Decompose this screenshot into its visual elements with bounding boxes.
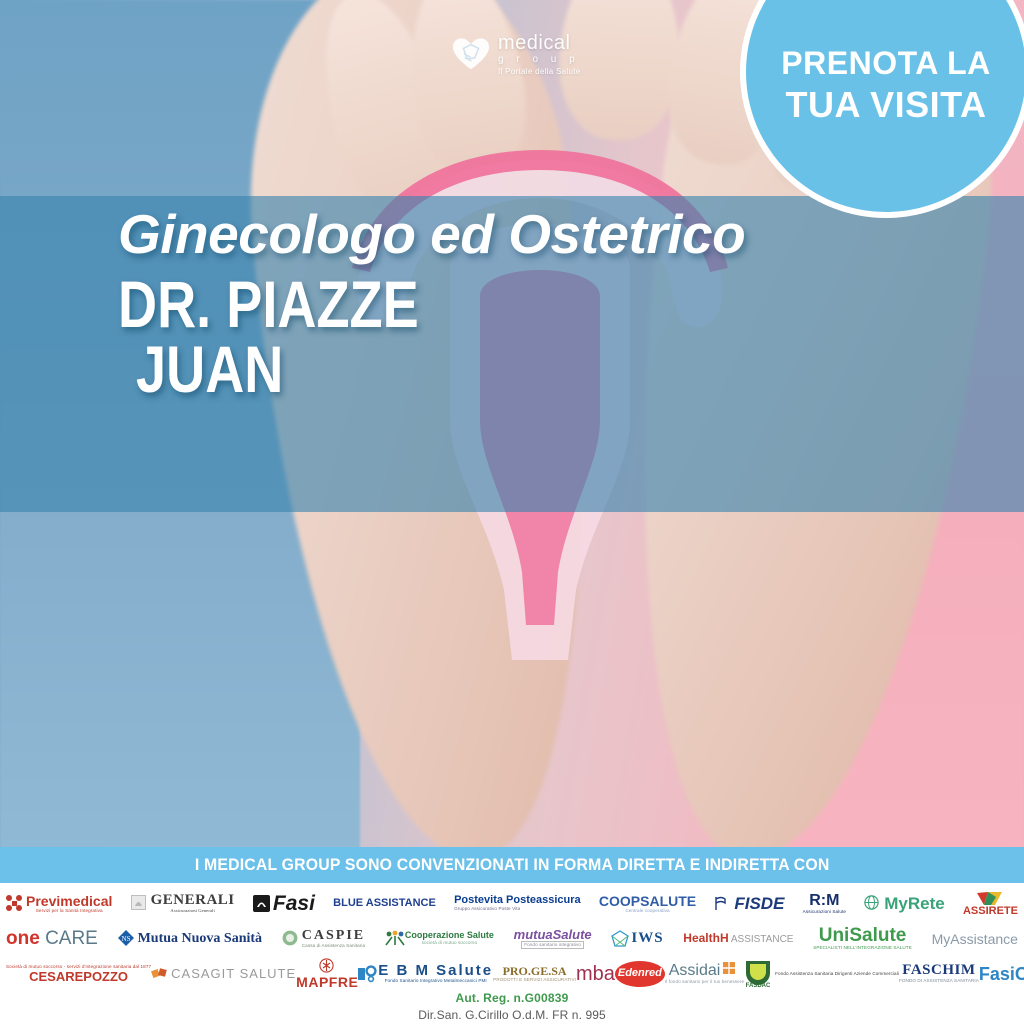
assidai-mark-icon xyxy=(723,962,740,979)
partner-sub: Il fondo sanitario per il tuo benessere xyxy=(665,979,744,984)
partner-name: Previmedical xyxy=(26,894,112,908)
partner-sub: Assicurazioni Salute xyxy=(803,909,846,914)
partner-logo-fasdac: FASDAC Fondo Assistenza Sanitaria Dirige… xyxy=(744,957,899,990)
partner-logo-ebm: E B M Salute Fondo Sanitario Integrativo… xyxy=(358,957,493,990)
authorization-number: Aut. Reg. n.G00839 xyxy=(0,991,1024,1005)
partner-logo-fisde: FISDE xyxy=(714,887,784,920)
svg-text:NS: NS xyxy=(121,935,130,943)
partner-name: Assidai xyxy=(669,963,721,979)
partner-logo-postevita: Postevita Posteassicura Gruppo Assicurat… xyxy=(454,887,581,920)
partner-name: UniSalute xyxy=(819,926,907,945)
partner-sub: PRODOTTI E SERVIZI ASSICURATIVI xyxy=(493,977,576,982)
partner-logo-unisalute: UniSalute SPECIALISTI NELL'INTEGRAZIONE … xyxy=(813,922,912,955)
partner-sub: società di mutuo soccorso xyxy=(422,940,478,945)
previmedical-mark-icon xyxy=(6,895,23,912)
caspie-mark-icon xyxy=(282,930,299,947)
partner-name: PRO.GE.SA xyxy=(503,965,567,977)
fasdac-mark-icon: FASDAC xyxy=(744,959,772,989)
partner-logo-cesarepozzo: Società di mutuo soccorso - servizi d'in… xyxy=(6,957,151,990)
ns-mark-icon: NS xyxy=(118,930,135,947)
partner-sub: SPECIALISTI NELL'INTEGRAZIONE SALUTE xyxy=(813,945,912,950)
fasi-mark-icon xyxy=(253,895,270,912)
doctor-name: DR. PIAZZE JUAN xyxy=(118,272,766,401)
badge-line2: TUA VISITA xyxy=(786,83,987,126)
assirete-mark-icon xyxy=(977,891,1003,906)
partner-logo-myassistance: MyAssistance xyxy=(932,922,1018,955)
ebm-mark-icon xyxy=(358,965,375,982)
partner-logo-assidai: Assidai Il fondo sanitario per il tuo be… xyxy=(665,957,744,990)
partner-name: ASSIRETE xyxy=(963,906,1018,917)
partner-logo-mutuasalute: mutuaSalute Fondo sanitario integrativo xyxy=(514,922,592,955)
partner-name: FISDE xyxy=(734,895,784,912)
partner-name: mba xyxy=(576,964,615,984)
brand-subname: g r o u p xyxy=(498,55,581,65)
partner-name: GENERALI xyxy=(151,893,235,908)
heart-handshake-icon xyxy=(452,37,490,71)
partner-row-1: Previmedical Servizi per la Sanità Integ… xyxy=(6,886,1018,921)
partner-logo-progesa: PRO.GE.SA PRODOTTI E SERVIZI ASSICURATIV… xyxy=(493,957,576,990)
mapfre-mark-icon xyxy=(319,958,336,975)
partner-name: IWS xyxy=(631,931,663,946)
brand-name: medical xyxy=(498,33,581,53)
partner-name: MAPFRE xyxy=(296,975,358,989)
partner-sub: Fondo sanitario integrativo xyxy=(521,941,584,948)
partner-logo-mapfre: MAPFRE xyxy=(296,957,358,990)
partner-name: MyAssistance xyxy=(932,932,1018,946)
partner-logo-generali: GENERALI Assicurazioni Generali xyxy=(131,887,235,920)
partner-row-2: one CARE one CARE NS Mutua Nuova Sanità xyxy=(6,921,1018,956)
iws-mark-icon xyxy=(611,930,628,947)
fisde-mark-icon xyxy=(714,895,731,912)
medical-director: Dir.San. G.Cirillo O.d.M. FR n. 995 xyxy=(0,1008,1024,1022)
partner-sub: FONDO DI ASSISTENZA SANITARIA xyxy=(899,978,979,983)
partner-logo-onecare: one CARE one CARE xyxy=(6,922,98,955)
partner-sub: Fondo Sanitario Integrativo Metalmeccani… xyxy=(385,978,487,983)
partner-logo-blue-assistance: BLUE ASSISTANCE xyxy=(333,887,436,920)
partner-name: CASAGIT SALUTE xyxy=(171,967,296,981)
partner-name: FASCHIM xyxy=(902,963,975,978)
partner-name: R:M xyxy=(809,893,839,909)
partner-logo-myrete: MyRete xyxy=(864,887,944,920)
partner-logo-assirete: ASSIRETE xyxy=(963,887,1018,920)
partner-sub: Fondo Assistenza Sanitaria Dirigenti Azi… xyxy=(775,971,899,976)
partner-sub: Assicurazioni Generali xyxy=(170,908,214,913)
partner-logo-nuovasanita: NS Mutua Nuova Sanità xyxy=(118,922,262,955)
partner-logo-caspie: CASPIE Cassa di Assistenza Sanitaria xyxy=(282,922,365,955)
partner-name: MyRete xyxy=(884,895,944,912)
doctor-specialty: Ginecologo ed Ostetrico xyxy=(118,206,908,262)
partner-name: CASPIE xyxy=(302,929,365,943)
partner-logo-rm: R:M Assicurazioni Salute xyxy=(803,887,846,920)
partner-logo-fasi: Fasi xyxy=(253,887,315,920)
partner-logo-coopsalute: COOPSALUTE Centrale cooperativa xyxy=(599,887,696,920)
doctor-name-line2: JUAN xyxy=(136,337,766,402)
partner-logo-iws: IWS xyxy=(611,922,663,955)
brand-logo: medical g r o u p Il Portale della Salut… xyxy=(452,26,602,82)
partners-banner: I MEDICAL GROUP SONO CONVENZIONATI IN FO… xyxy=(0,847,1024,883)
partner-logo-edenred: Edenred xyxy=(615,957,665,990)
promo-poster: medical g r o u p Il Portale della Salut… xyxy=(0,0,1024,1024)
partner-logo-healthh: HealthH ASSISTANCE HealthH ASSISTANCE xyxy=(683,922,793,955)
partner-row-3: Società di mutuo soccorso - servizi d'in… xyxy=(6,956,1018,991)
partner-name: Mutua Nuova Sanità xyxy=(138,932,262,946)
partner-name: CESAREPOZZO xyxy=(29,970,128,983)
partner-sub: Cassa di Assistenza Sanitaria xyxy=(302,943,365,948)
badge-line1: PRENOTA LA xyxy=(781,43,990,83)
partners-banner-text: I MEDICAL GROUP SONO CONVENZIONATI IN FO… xyxy=(195,855,830,875)
partner-logo-wall: Previmedical Servizi per la Sanità Integ… xyxy=(0,883,1024,991)
partner-name: mutuaSalute xyxy=(514,928,592,941)
partner-name: E B M Salute xyxy=(378,963,493,978)
partner-logo-cooperazione-salute: Cooperazione Salute società di mutuo soc… xyxy=(385,922,494,955)
hero-titles: Ginecologo ed Ostetrico DR. PIAZZE JUAN xyxy=(118,206,908,401)
partner-logo-mba: mba xyxy=(576,957,615,990)
partner-sub: Gruppo Assicurativo Poste Vita xyxy=(454,906,520,911)
people-icon xyxy=(385,930,402,947)
partner-name: COOPSALUTE xyxy=(599,894,696,908)
partner-name: FasiOpen xyxy=(979,965,1024,983)
partner-sub: Centrale cooperativa xyxy=(625,908,669,913)
partner-sub: Servizi per la Sanità Integrativa xyxy=(36,908,103,913)
globe-icon xyxy=(864,895,881,912)
partner-name: Postevita Posteassicura xyxy=(454,895,581,906)
doctor-name-line1: DR. PIAZZE xyxy=(118,272,766,337)
partner-logo-fasiopen: FasiOpen xyxy=(979,957,1024,990)
partner-name: Cooperazione Salute xyxy=(405,931,494,940)
partner-name: Edenred xyxy=(618,968,662,979)
partner-name: BLUE ASSISTANCE xyxy=(333,898,436,909)
generali-lion-icon xyxy=(131,895,148,912)
partner-name: Fasi xyxy=(273,893,315,914)
legal-footer: Aut. Reg. n.G00839 Dir.San. G.Cirillo O.… xyxy=(0,991,1024,1022)
partner-logo-faschim: FASCHIM FONDO DI ASSISTENZA SANITARIA xyxy=(899,957,979,990)
casagit-mark-icon xyxy=(151,965,168,982)
brand-tagline: Il Portale della Salute xyxy=(498,68,581,76)
partner-logo-previmedical: Previmedical Servizi per la Sanità Integ… xyxy=(6,887,112,920)
svg-text:FASDAC: FASDAC xyxy=(746,983,771,989)
partner-logo-casagit: CASAGIT SALUTE xyxy=(151,957,296,990)
